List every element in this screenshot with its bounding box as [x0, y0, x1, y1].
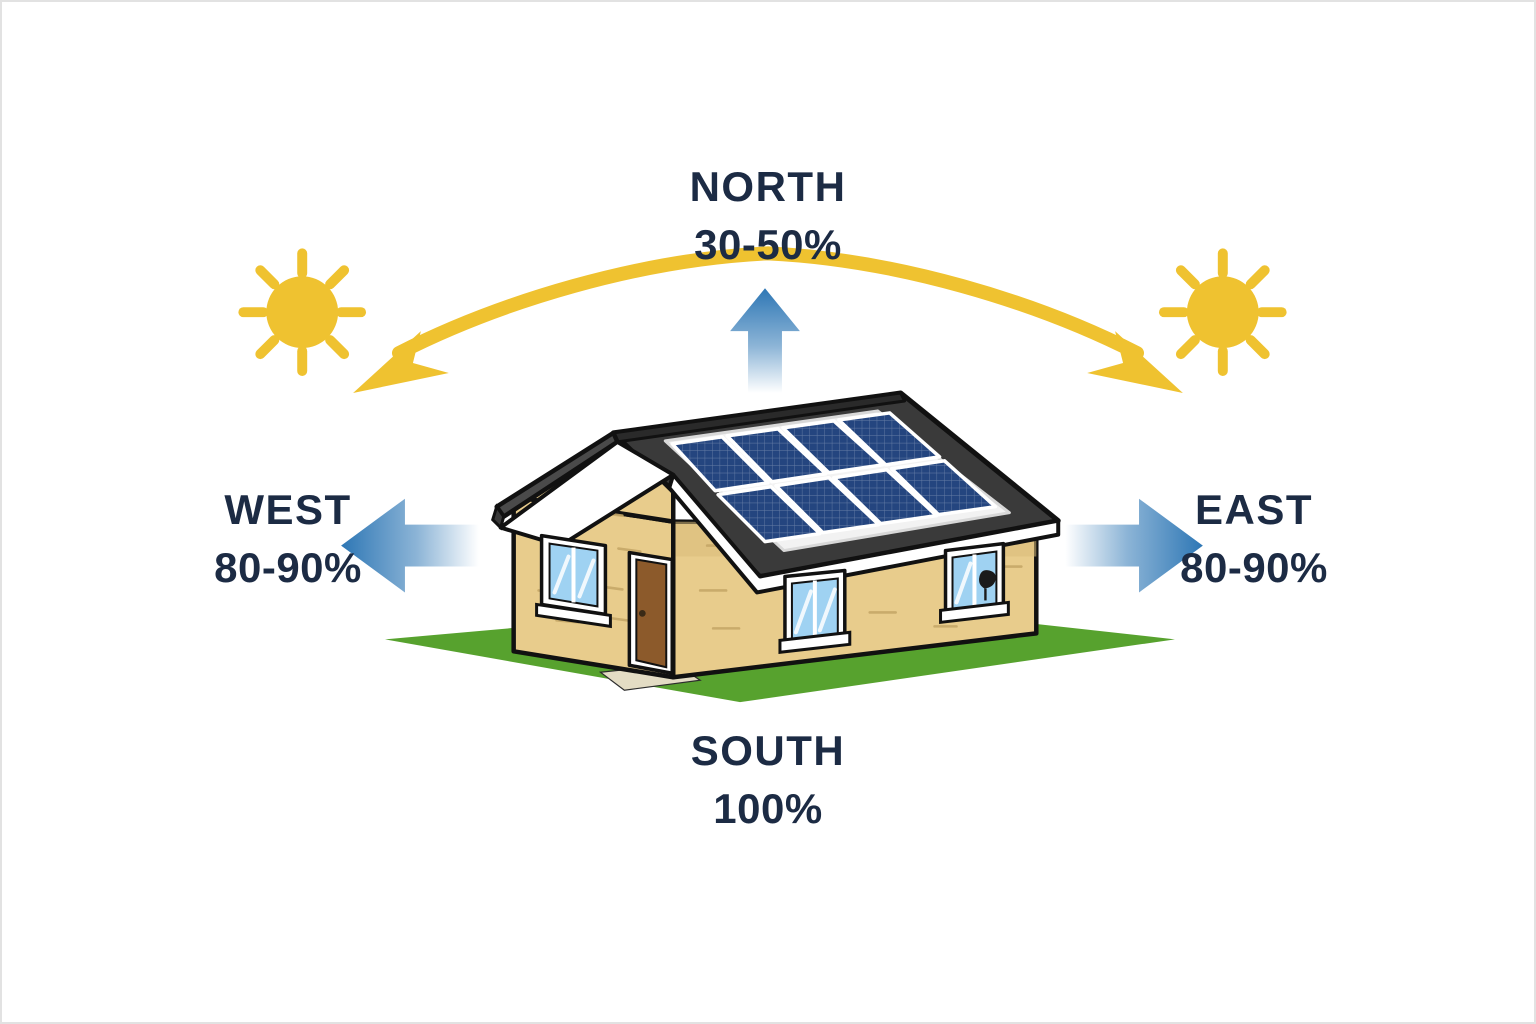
- door: [629, 553, 672, 674]
- direction-name-south: SOUTH: [640, 730, 896, 772]
- diagram-canvas: NORTH 30-50% WEST 80-90% EAST 80-90% SOU…: [0, 0, 1536, 1024]
- north-arrow-icon: [730, 288, 800, 393]
- label-east: EAST 80-90%: [1118, 489, 1390, 589]
- efficiency-value-north: 30-50%: [640, 224, 896, 266]
- window: [537, 536, 611, 627]
- efficiency-value-east: 80-90%: [1118, 547, 1390, 589]
- sun-icon: [243, 253, 361, 371]
- label-north: NORTH 30-50%: [640, 166, 896, 266]
- direction-name-north: NORTH: [640, 166, 896, 208]
- window: [941, 544, 1009, 623]
- label-south: SOUTH 100%: [640, 730, 896, 830]
- sun-icon: [1164, 253, 1282, 371]
- label-west: WEST 80-90%: [152, 489, 424, 589]
- direction-name-west: WEST: [152, 489, 424, 531]
- house-with-solar-panels: [493, 393, 1059, 677]
- efficiency-value-west: 80-90%: [152, 547, 424, 589]
- window: [780, 571, 850, 653]
- efficiency-value-south: 100%: [640, 788, 896, 830]
- direction-name-east: EAST: [1118, 489, 1390, 531]
